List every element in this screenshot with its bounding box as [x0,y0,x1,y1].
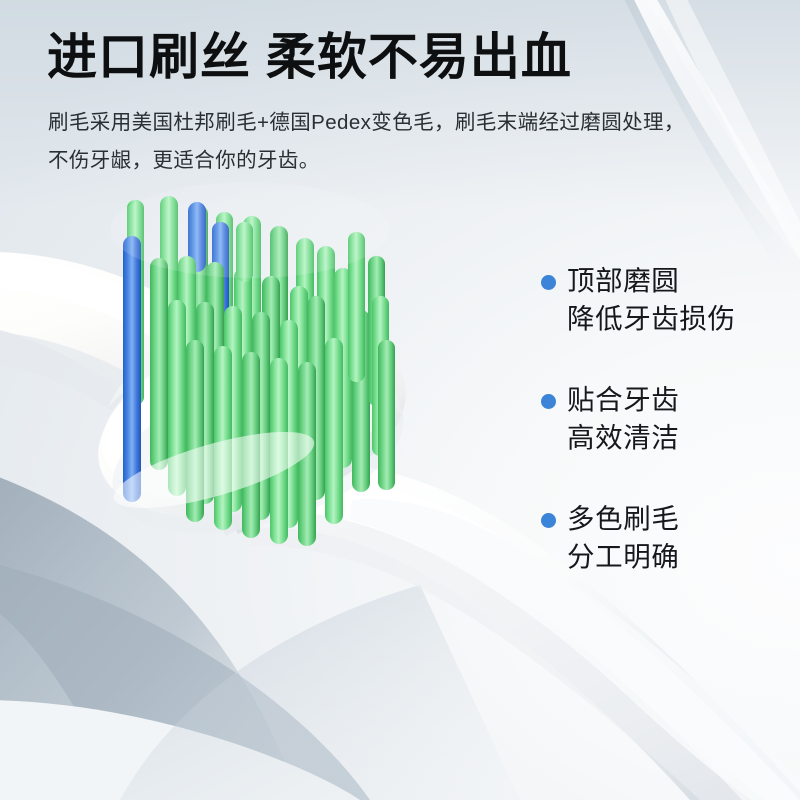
bristle-tuft-green [214,346,232,530]
feature-bullet-3-line-1: 多色刷毛 [567,500,789,538]
feature-bullet-3: 多色刷毛 分工明确 [539,500,789,576]
bristle-tuft-green [378,340,395,490]
bristle-tuft-green [150,258,168,470]
feature-bullet-list: 顶部磨圆 降低牙齿损伤 贴合牙齿 高效清洁 多色刷毛 分工明确 [539,262,789,576]
feature-bullet-3-line-2: 分工明确 [567,538,789,576]
bristle-tip-bloom [110,182,390,278]
page-title: 进口刷丝 柔软不易出血 [47,26,767,88]
feature-bullet-1-line-2: 降低牙齿损伤 [567,300,789,338]
feature-bullet-2-line-1: 贴合牙齿 [567,381,789,419]
feature-bullet-1: 顶部磨圆 降低牙齿损伤 [539,262,789,338]
bullet-dot-icon [541,513,556,528]
subtitle-line-1: 刷毛采用美国杜邦刷毛+德国Pedex变色毛，刷毛末端经过磨圆处理， [48,104,788,142]
subtitle-line-2: 不伤牙龈，更适合你的牙齿。 [48,142,788,180]
bullet-dot-icon [541,394,556,409]
feature-bullet-1-line-1: 顶部磨圆 [567,262,789,300]
subtitle-block: 刷毛采用美国杜邦刷毛+德国Pedex变色毛，刷毛末端经过磨圆处理， 不伤牙龈，更… [48,104,788,180]
product-image-canvas: 进口刷丝 柔软不易出血 刷毛采用美国杜邦刷毛+德国Pedex变色毛，刷毛末端经过… [0,0,800,800]
feature-bullet-2: 贴合牙齿 高效清洁 [539,381,789,457]
bristle-tuft-blue [123,236,141,502]
bristle-tuft-green [325,338,343,524]
bullet-dot-icon [541,275,556,290]
feature-bullet-2-line-2: 高效清洁 [567,419,789,457]
